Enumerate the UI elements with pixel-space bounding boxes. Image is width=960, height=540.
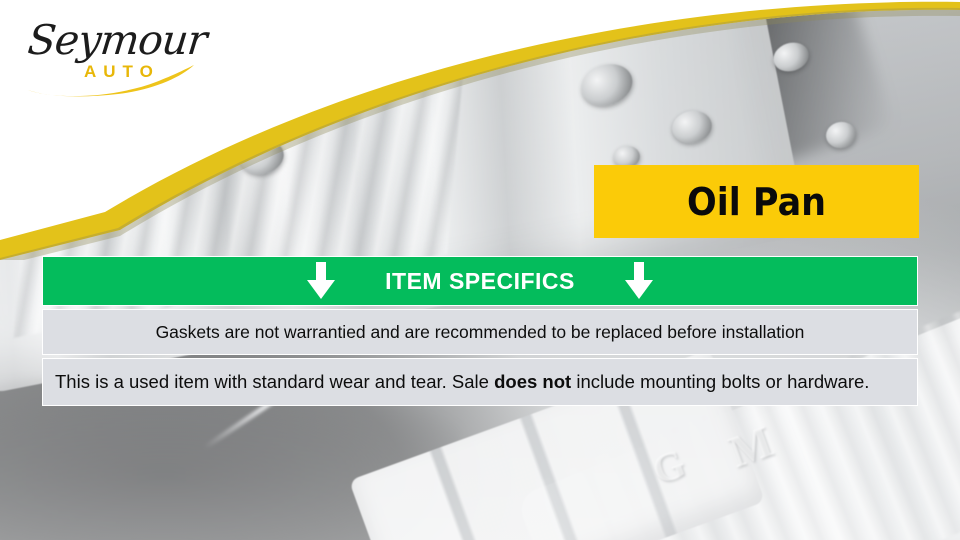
brand-logo[interactable]: Seymour AUTO <box>22 18 212 98</box>
spec-text-part-1: This is a used item with standard wear a… <box>55 371 494 392</box>
spec-text-emphasis: does not <box>494 371 571 392</box>
logo-wordmark: Seymour <box>26 20 208 61</box>
spec-text-part-2: include mounting bolts or hardware. <box>571 371 869 392</box>
item-specifics-header: ITEM SPECIFICS <box>42 256 918 306</box>
item-specifics-title: ITEM SPECIFICS <box>385 268 575 295</box>
arrow-down-icon <box>305 262 337 300</box>
part-title-banner: Oil Pan <box>594 165 919 238</box>
table-row: Gaskets are not warrantied and are recom… <box>42 309 918 355</box>
table-row: This is a used item with standard wear a… <box>42 358 918 406</box>
spec-text-gaskets: Gaskets are not warrantied and are recom… <box>156 322 805 343</box>
slide-canvas: G M Seymour AUTO Oil Pan ITEM SPECIFICS <box>0 0 960 540</box>
logo-sub-wordmark: AUTO <box>84 62 160 82</box>
spec-text-used-item: This is a used item with standard wear a… <box>55 371 869 393</box>
item-specifics-table: ITEM SPECIFICS Gaskets are not warrantie… <box>42 256 918 406</box>
arrow-down-icon <box>623 262 655 300</box>
page-title: Oil Pan <box>687 180 826 224</box>
